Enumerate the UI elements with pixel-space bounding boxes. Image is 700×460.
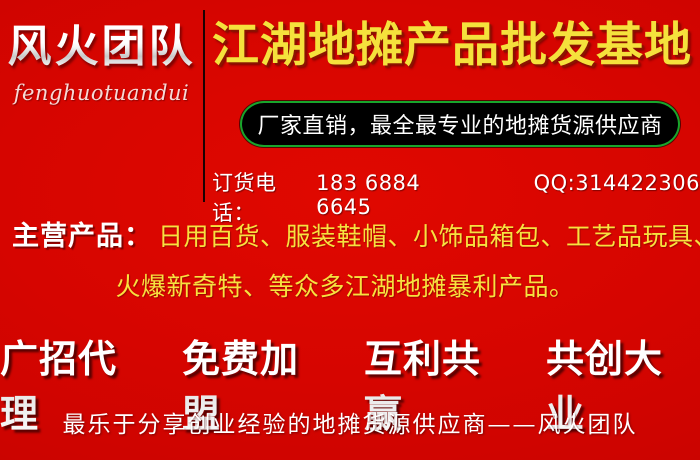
products-label: 主营产品： [12, 214, 152, 253]
brand-name-pinyin: fenghuotuandui [0, 81, 203, 105]
products-line-2: 火爆新奇特、等众多江湖地摊暴利产品。 [0, 267, 700, 303]
promo-banner: 风火团队 fenghuotuandui 江湖地摊产品批发基地 厂家直销，最全最专… [0, 0, 700, 460]
vertical-divider [203, 10, 205, 202]
products-line-1: 主营产品： 日用百货、服装鞋帽、小饰品箱包、工艺品玩具、 [0, 214, 700, 253]
page-title: 江湖地摊产品批发基地 [212, 20, 692, 73]
phone-number: 183 6884 6645 [316, 171, 478, 219]
products-text-line-2: 火爆新奇特、等众多江湖地摊暴利产品。 [115, 272, 574, 301]
brand-logo: 风火团队 fenghuotuandui [0, 22, 203, 105]
subtitle-badge: 厂家直销，最全最专业的地摊货源供应商 [240, 101, 680, 147]
qq-number: QQ:314422306 [534, 171, 700, 195]
brand-name-cn: 风火团队 [0, 22, 203, 71]
products-text-line-1: 日用百货、服装鞋帽、小饰品箱包、工艺品玩具、 [158, 217, 700, 253]
footer-tagline: 最乐于分享创业经验的地摊货源供应商——风火团队 [0, 405, 700, 439]
products-section: 主营产品： 日用百货、服装鞋帽、小饰品箱包、工艺品玩具、 火爆新奇特、等众多江湖… [0, 214, 700, 303]
subtitle-text: 厂家直销，最全最专业的地摊货源供应商 [257, 108, 662, 140]
